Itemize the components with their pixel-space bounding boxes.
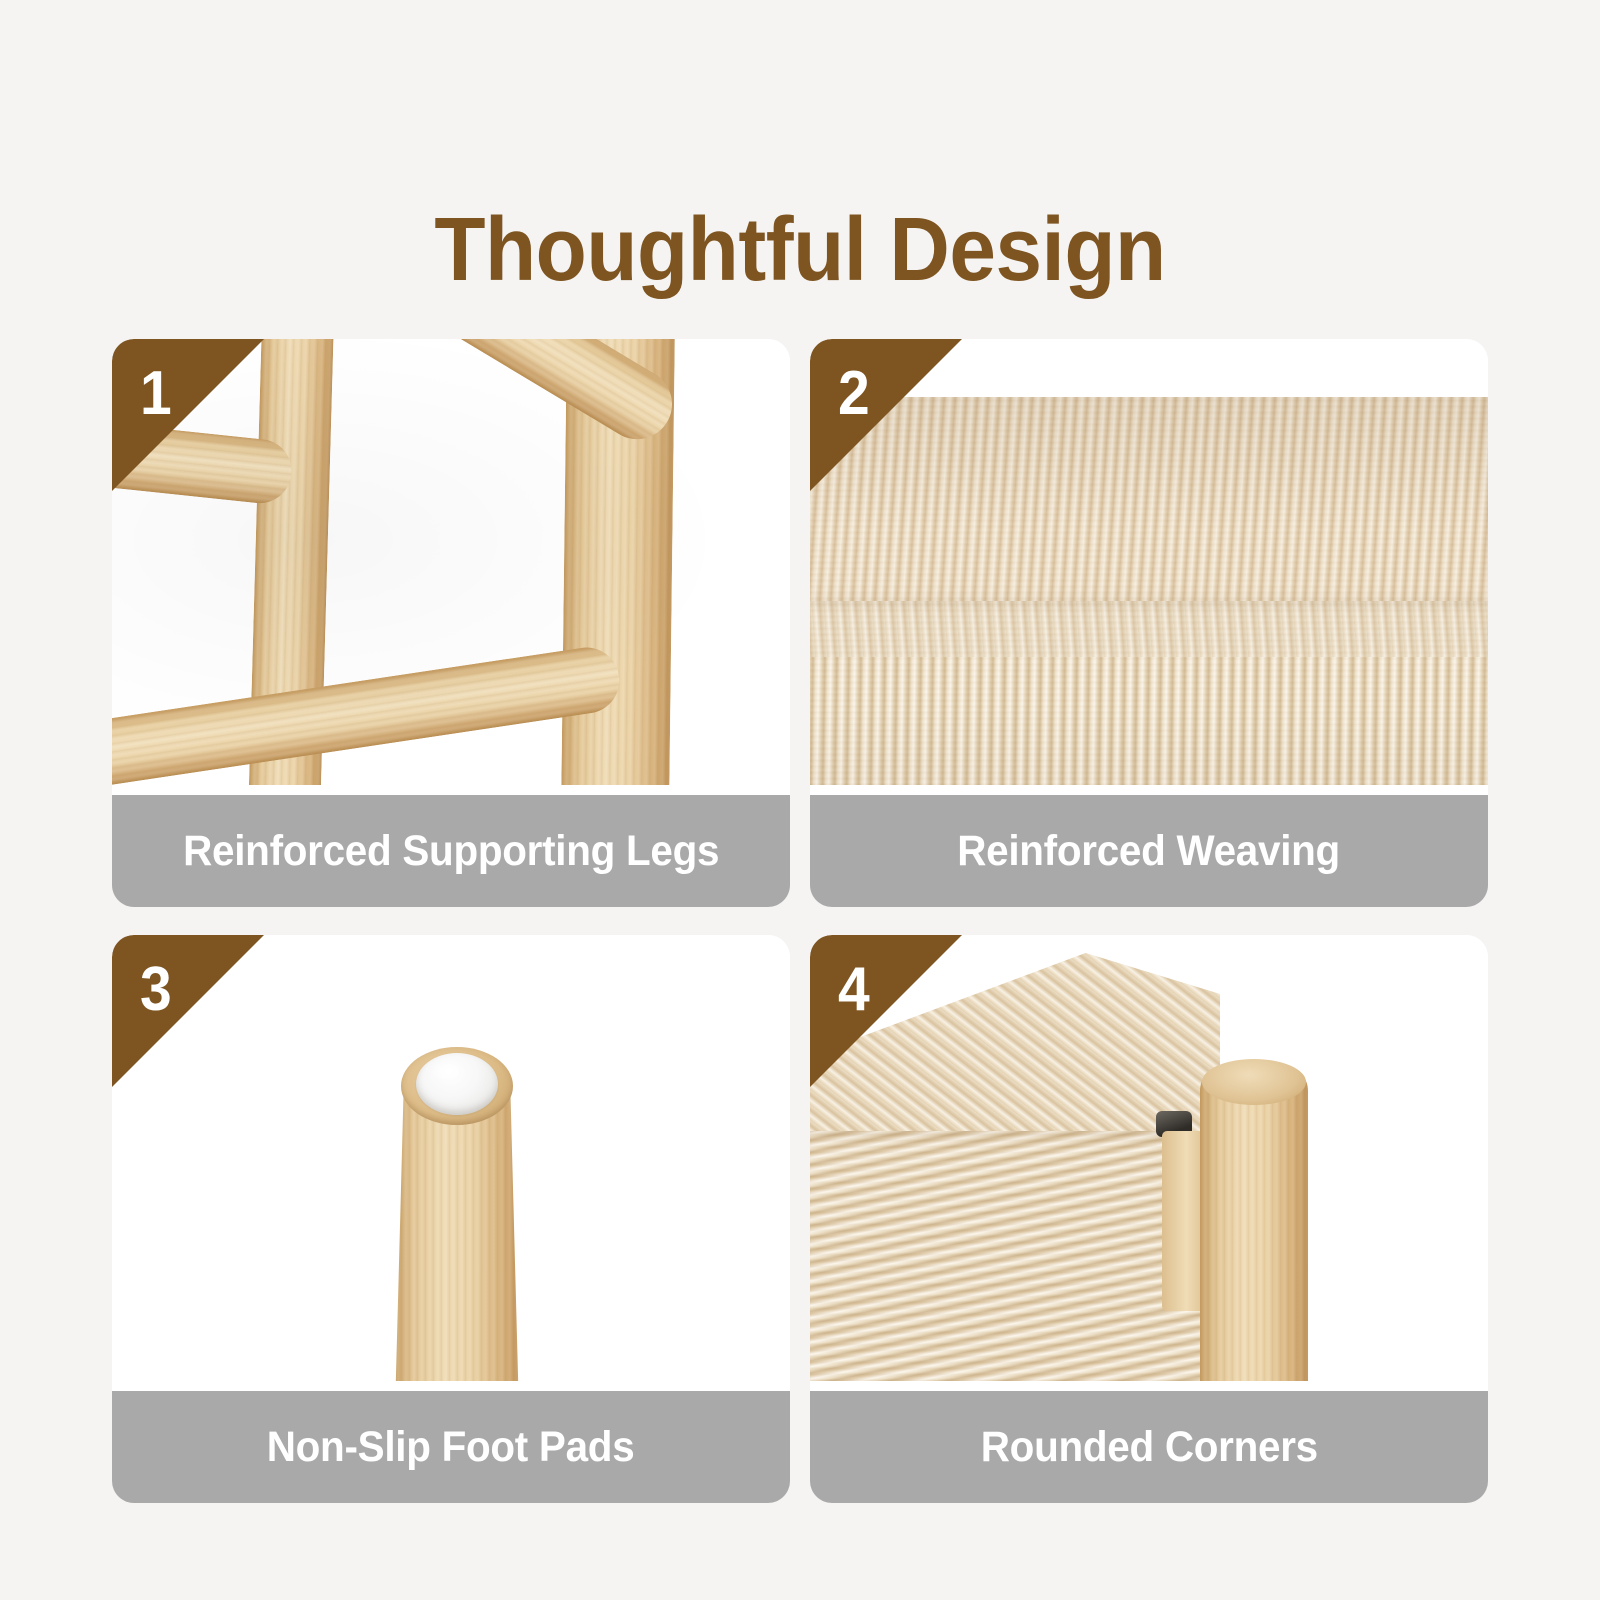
card-2-label-bar: Reinforced Weaving [810, 795, 1488, 907]
feature-card-4[interactable]: 4 Rounded Corners [810, 935, 1488, 1503]
post-rounded-cap [1202, 1059, 1306, 1105]
wooden-legs-illustration [112, 339, 790, 785]
card-4-gap [810, 1381, 1488, 1391]
card-2-label-text: Reinforced Weaving [958, 827, 1341, 876]
card-4-photo: 4 [810, 935, 1488, 1381]
feature-card-2[interactable]: 2 Reinforced Weaving [810, 339, 1488, 907]
card-3-gap [112, 1381, 790, 1391]
page-title: Thoughtful Design [56, 198, 1544, 302]
card-2-gap [810, 785, 1488, 795]
woven-seat-side [810, 1131, 1220, 1381]
rounded-corner-illustration [810, 935, 1488, 1381]
card-4-label-bar: Rounded Corners [810, 1391, 1488, 1503]
card-1-photo: 1 [112, 339, 790, 785]
card-1-gap [112, 785, 790, 795]
woven-seat-illustration [810, 339, 1488, 785]
pad-highlight [430, 1061, 464, 1081]
feature-card-grid: 1 Reinforced Supporting Legs [112, 339, 1488, 1503]
card-3-label-text: Non-Slip Foot Pads [267, 1423, 635, 1472]
card-3-photo: 3 [112, 935, 790, 1381]
card-3-label-bar: Non-Slip Foot Pads [112, 1391, 790, 1503]
card-1-label-text: Reinforced Supporting Legs [183, 827, 719, 876]
rounded-corner-post [1200, 1065, 1308, 1381]
card-1-label-bar: Reinforced Supporting Legs [112, 795, 790, 907]
feature-card-1[interactable]: 1 Reinforced Supporting Legs [112, 339, 790, 907]
weave-shading [810, 397, 1488, 785]
photo-vignette [112, 339, 790, 785]
card-4-label-text: Rounded Corners [980, 1423, 1317, 1472]
card-2-photo: 2 [810, 339, 1488, 785]
foot-pad-illustration [112, 935, 790, 1381]
infographic-page: Thoughtful Design 1 Reinfo [0, 0, 1600, 1600]
feature-card-3[interactable]: 3 Non-Slip Foot Pads [112, 935, 790, 1503]
